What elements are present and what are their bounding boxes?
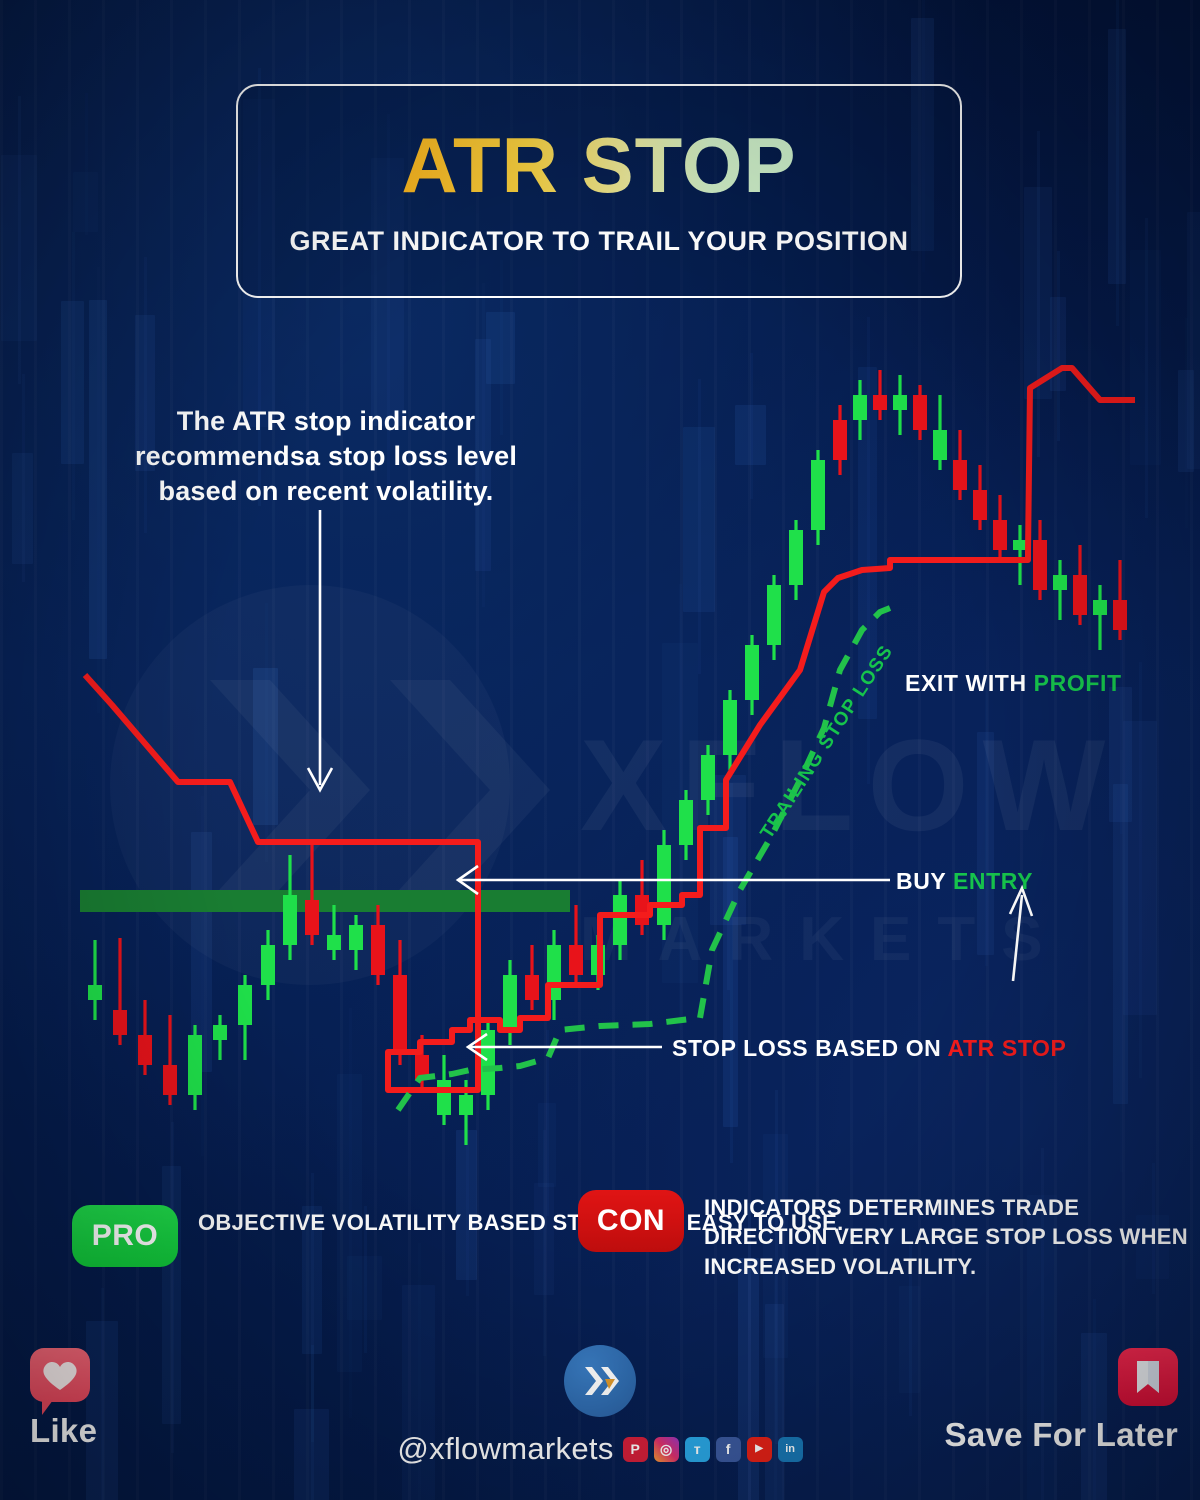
infographic-canvas: XFLOW MARKETS ATR STOP GREAT INDICATOR T…	[0, 0, 1200, 1500]
vignette-overlay	[0, 0, 1200, 1500]
